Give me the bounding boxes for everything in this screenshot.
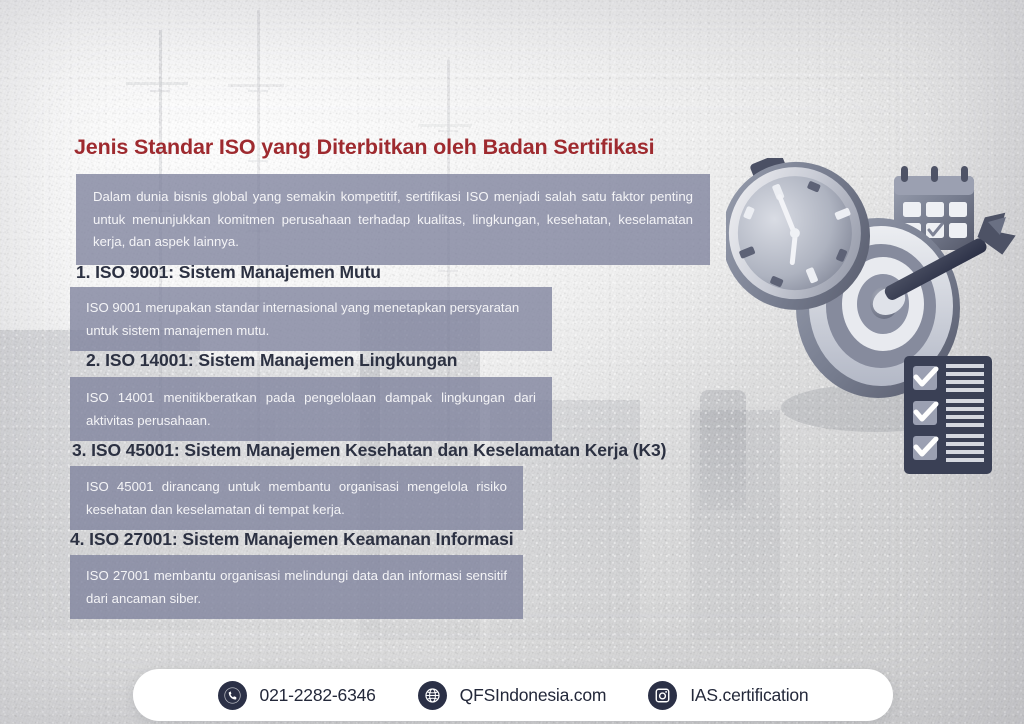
ghost-tower-block <box>690 410 780 640</box>
intro-paragraph-text: Dalam dunia bisnis global yang semakin k… <box>93 186 693 254</box>
checklist-icon <box>904 356 992 474</box>
footer-contact-bar: 021-2282-6346 QFSIndonesia.com <box>133 669 893 721</box>
contact-instagram[interactable]: IAS.certification <box>648 681 808 710</box>
section-heading-iso-45001: 3. ISO 45001: Sistem Manajemen Kesehatan… <box>72 440 666 461</box>
crane-jib <box>126 82 188 85</box>
dart-arrow-icon <box>868 211 1017 321</box>
stopwatch-icon <box>726 158 892 332</box>
section-heading-iso-14001: 2. ISO 14001: Sistem Manajemen Lingkunga… <box>86 350 457 371</box>
poster-canvas: Jenis Standar ISO yang Diterbitkan oleh … <box>0 0 1024 724</box>
section-heading-iso-9001: 1. ISO 9001: Sistem Manajemen Mutu <box>76 262 381 283</box>
crane-rung <box>438 130 458 132</box>
globe-icon <box>418 681 447 710</box>
intro-paragraph-box: Dalam dunia bisnis global yang semakin k… <box>76 174 710 265</box>
page-title: Jenis Standar ISO yang Diterbitkan oleh … <box>74 135 794 159</box>
ghost-silo <box>700 390 746 510</box>
phone-icon <box>218 681 247 710</box>
contact-instagram-text: IAS.certification <box>690 685 808 706</box>
calendar-icon <box>894 166 974 250</box>
section-body-text-iso-45001: ISO 45001 dirancang untuk membantu organ… <box>86 476 507 521</box>
instagram-icon <box>648 681 677 710</box>
section-body-text-iso-14001: ISO 14001 menitikberatkan pada pengelola… <box>86 387 536 432</box>
section-heading-iso-27001: 4. ISO 27001: Sistem Manajemen Keamanan … <box>70 529 513 550</box>
section-body-text-iso-9001: ISO 9001 merupakan standar internasional… <box>86 297 536 342</box>
crane-rung <box>248 90 268 92</box>
contact-website[interactable]: QFSIndonesia.com <box>418 681 607 710</box>
section-body-box-iso-45001: ISO 45001 dirancang untuk membantu organ… <box>70 466 523 530</box>
crane-rung <box>248 160 268 162</box>
contact-phone[interactable]: 021-2282-6346 <box>218 681 376 710</box>
section-body-box-iso-9001: ISO 9001 merupakan standar internasional… <box>70 287 552 351</box>
crane-jib <box>228 84 284 87</box>
crane-jib <box>418 124 472 127</box>
contact-website-text: QFSIndonesia.com <box>460 685 607 706</box>
section-body-box-iso-14001: ISO 14001 menitikberatkan pada pengelola… <box>70 377 552 441</box>
section-body-text-iso-27001: ISO 27001 membantu organisasi melindungi… <box>86 565 507 610</box>
contact-phone-text: 021-2282-6346 <box>260 685 376 706</box>
crane-rung <box>150 90 170 92</box>
illustration-group <box>726 158 1024 478</box>
target-dartboard-icon <box>796 218 960 398</box>
crane-rung <box>438 270 458 272</box>
section-body-box-iso-27001: ISO 27001 membantu organisasi melindungi… <box>70 555 523 619</box>
